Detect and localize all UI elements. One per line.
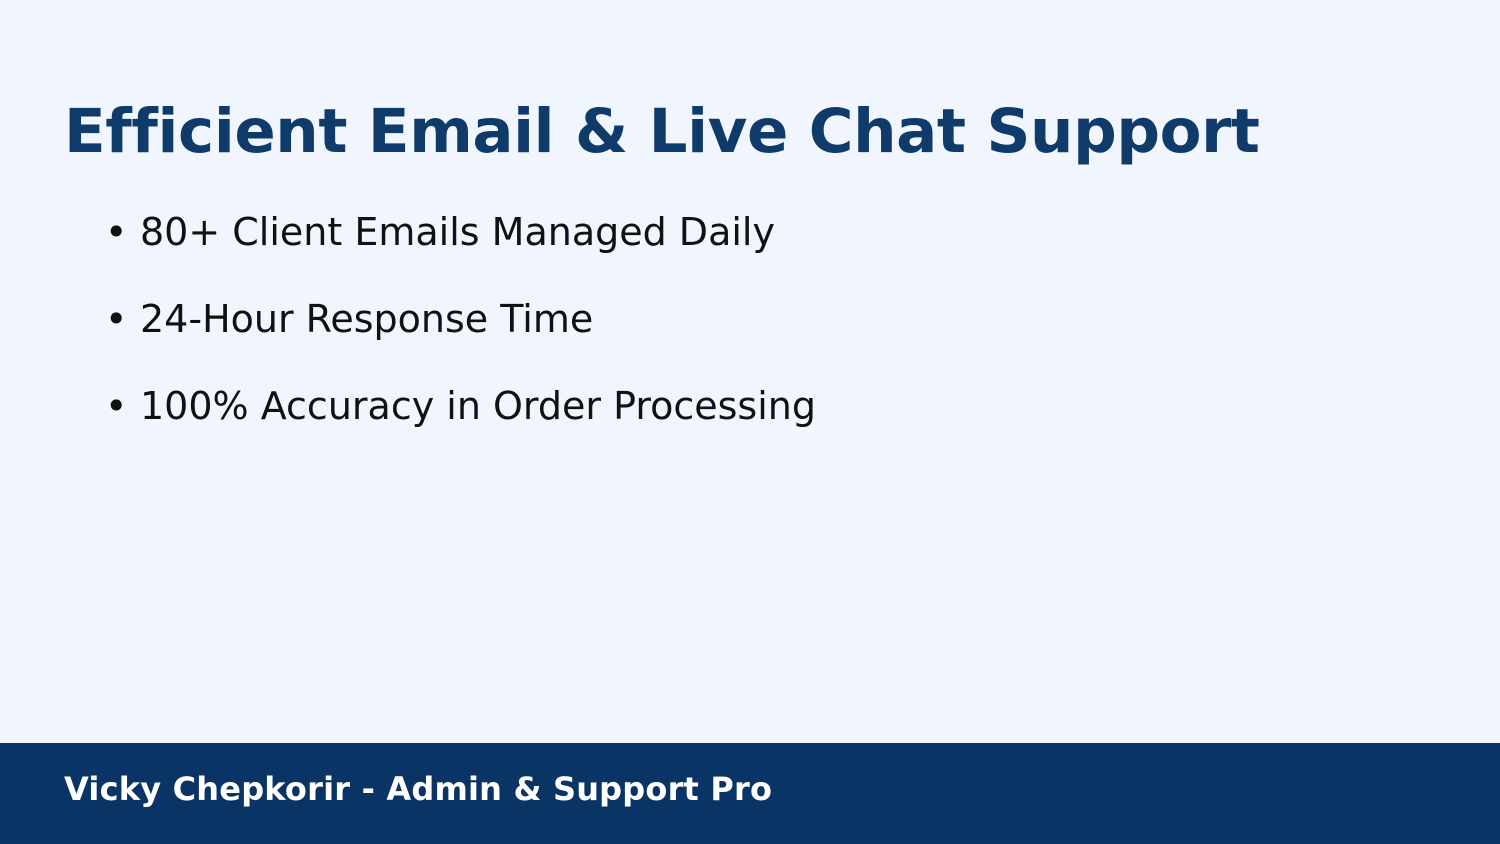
list-item: • 80+ Client Emails Managed Daily (100, 213, 1420, 300)
bullet-point-icon: • (100, 300, 140, 338)
bullet-point-icon: • (100, 213, 140, 251)
footer-presenter-label: Vicky Chepkorir - Admin & Support Pro (64, 773, 772, 805)
bullet-point-icon: • (100, 387, 140, 425)
list-item: • 24-Hour Response Time (100, 300, 1420, 387)
bullet-item-label: 80+ Client Emails Managed Daily (140, 213, 775, 251)
bullet-item-label: 24-Hour Response Time (140, 300, 593, 338)
list-item: • 100% Accuracy in Order Processing (100, 387, 1420, 474)
slide-footer-bar: Vicky Chepkorir - Admin & Support Pro (0, 743, 1500, 844)
bullet-list: • 80+ Client Emails Managed Daily • 24-H… (100, 213, 1420, 474)
bullet-item-label: 100% Accuracy in Order Processing (140, 387, 816, 425)
presentation-slide: Efficient Email & Live Chat Support • 80… (0, 0, 1500, 844)
slide-title: Efficient Email & Live Chat Support (64, 98, 1260, 165)
